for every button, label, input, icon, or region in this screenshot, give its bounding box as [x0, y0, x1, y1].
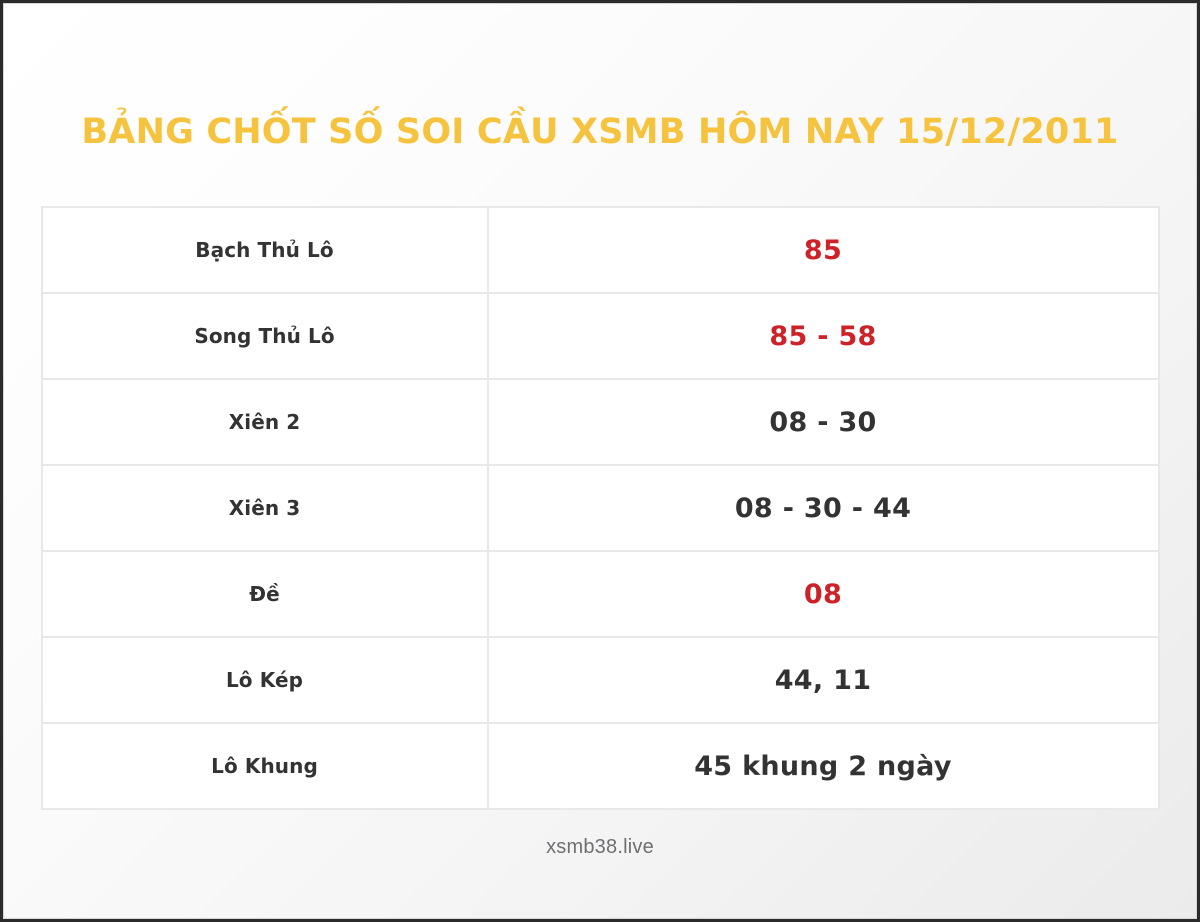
table-row: Bạch Thủ Lô85	[42, 207, 1159, 293]
table-row: Lô Kép44, 11	[42, 637, 1159, 723]
row-label-cell: Lô Khung	[42, 723, 488, 809]
table-row: Xiên 308 - 30 - 44	[42, 465, 1159, 551]
row-label-cell: Xiên 3	[42, 465, 488, 551]
prediction-table-body: Bạch Thủ Lô85Song Thủ Lô85 - 58Xiên 208 …	[42, 207, 1159, 809]
table-row: Song Thủ Lô85 - 58	[42, 293, 1159, 379]
row-value-cell: 08 - 30 - 44	[488, 465, 1159, 551]
page-title-container: BẢNG CHỐT SỐ SOI CẦU XSMB HÔM NAY 15/12/…	[4, 90, 1196, 175]
row-label-cell: Bạch Thủ Lô	[42, 207, 488, 293]
row-label-cell: Lô Kép	[42, 637, 488, 723]
row-label-cell: Đề	[42, 551, 488, 637]
row-value-cell: 85	[488, 207, 1159, 293]
row-value-cell: 08	[488, 551, 1159, 637]
table-row: Đề08	[42, 551, 1159, 637]
prediction-table: Bạch Thủ Lô85Song Thủ Lô85 - 58Xiên 208 …	[41, 206, 1160, 810]
row-label-cell: Song Thủ Lô	[42, 293, 488, 379]
footer: xsmb38.live	[4, 836, 1196, 859]
site-name-label: xsmb38.live	[546, 836, 654, 858]
row-value-cell: 44, 11	[488, 637, 1159, 723]
row-value-cell: 85 - 58	[488, 293, 1159, 379]
row-label-cell: Xiên 2	[42, 379, 488, 465]
row-value-cell: 45 khung 2 ngày	[488, 723, 1159, 809]
table-row: Xiên 208 - 30	[42, 379, 1159, 465]
table-row: Lô Khung45 khung 2 ngày	[42, 723, 1159, 809]
page-frame: BẢNG CHỐT SỐ SOI CẦU XSMB HÔM NAY 15/12/…	[3, 3, 1197, 919]
row-value-cell: 08 - 30	[488, 379, 1159, 465]
page-title: BẢNG CHỐT SỐ SOI CẦU XSMB HÔM NAY 15/12/…	[81, 113, 1118, 152]
